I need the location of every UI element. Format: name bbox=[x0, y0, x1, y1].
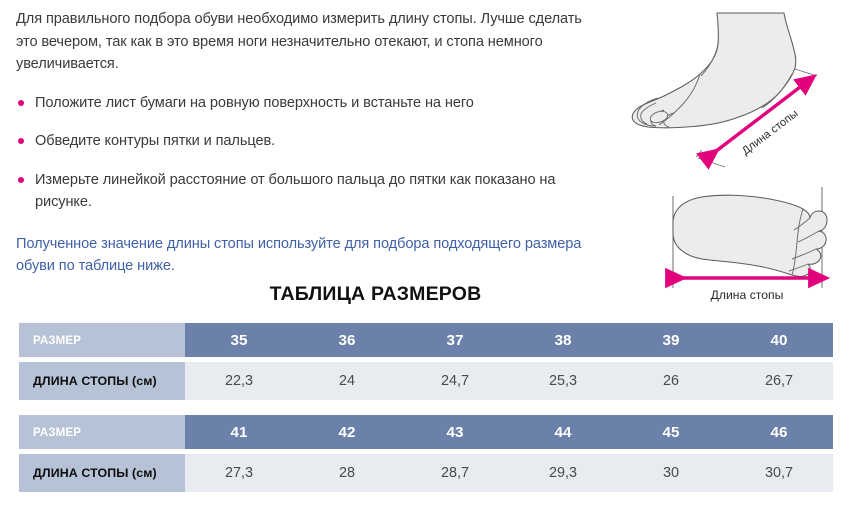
length-cell: 26 bbox=[617, 362, 725, 400]
length-cell: 30,7 bbox=[725, 454, 833, 492]
intro-paragraph: Для правильного подбора обуви необходимо… bbox=[16, 8, 604, 76]
length-cell: 28 bbox=[293, 454, 401, 492]
size-cell: 46 bbox=[725, 415, 833, 449]
step-text: Положите лист бумаги на ровную поверхнос… bbox=[35, 95, 474, 111]
page-title: ТАБЛИЦА РАЗМЕРОВ bbox=[0, 283, 751, 306]
length-cell: 24 bbox=[293, 362, 401, 400]
bullet-dot-icon bbox=[18, 138, 24, 144]
length-cell: 28,7 bbox=[401, 454, 509, 492]
list-item: Обведите контуры пятки и пальцев. bbox=[16, 130, 604, 153]
step-text: Измерьте линейкой расстояние от большого… bbox=[35, 172, 555, 211]
table-row: РАЗМЕР 35 36 37 38 39 40 bbox=[19, 323, 833, 357]
size-cell: 39 bbox=[617, 323, 725, 357]
row-header-size: РАЗМЕР bbox=[19, 323, 185, 357]
outro-paragraph: Полученное значение длины стопы использу… bbox=[16, 233, 604, 278]
steps-list: Положите лист бумаги на ровную поверхнос… bbox=[16, 92, 604, 214]
size-cell: 35 bbox=[185, 323, 293, 357]
length-cell: 30 bbox=[617, 454, 725, 492]
foot-side-view-illustration: Длина стопы bbox=[612, 0, 851, 182]
size-table-1: РАЗМЕР 35 36 37 38 39 40 ДЛИНА СТОПЫ (см… bbox=[19, 323, 833, 400]
bullet-dot-icon bbox=[18, 177, 24, 183]
bullet-dot-icon bbox=[18, 100, 24, 106]
row-header-length: ДЛИНА СТОПЫ (см) bbox=[19, 362, 185, 400]
table-row: ДЛИНА СТОПЫ (см) 22,3 24 24,7 25,3 26 26… bbox=[19, 362, 833, 400]
row-header-length: ДЛИНА СТОПЫ (см) bbox=[19, 454, 185, 492]
size-cell: 45 bbox=[617, 415, 725, 449]
side-view-measure-label: Длина стопы bbox=[740, 108, 801, 158]
size-cell: 36 bbox=[293, 323, 401, 357]
size-cell: 42 bbox=[293, 415, 401, 449]
size-guide-page: Для правильного подбора обуви необходимо… bbox=[0, 0, 851, 509]
size-cell: 44 bbox=[509, 415, 617, 449]
step-text: Обведите контуры пятки и пальцев. bbox=[35, 133, 275, 149]
table-row: РАЗМЕР 41 42 43 44 45 46 bbox=[19, 415, 833, 449]
list-item: Положите лист бумаги на ровную поверхнос… bbox=[16, 92, 604, 115]
size-cell: 37 bbox=[401, 323, 509, 357]
length-cell: 24,7 bbox=[401, 362, 509, 400]
row-header-size: РАЗМЕР bbox=[19, 415, 185, 449]
size-cell: 41 bbox=[185, 415, 293, 449]
length-cell: 29,3 bbox=[509, 454, 617, 492]
size-cell: 38 bbox=[509, 323, 617, 357]
list-item: Измерьте линейкой расстояние от большого… bbox=[16, 169, 604, 214]
length-cell: 25,3 bbox=[509, 362, 617, 400]
length-cell: 22,3 bbox=[185, 362, 293, 400]
length-cell: 27,3 bbox=[185, 454, 293, 492]
size-table-2: РАЗМЕР 41 42 43 44 45 46 ДЛИНА СТОПЫ (см… bbox=[19, 415, 833, 492]
table-row: ДЛИНА СТОПЫ (см) 27,3 28 28,7 29,3 30 30… bbox=[19, 454, 833, 492]
size-cell: 43 bbox=[401, 415, 509, 449]
size-cell: 40 bbox=[725, 323, 833, 357]
length-cell: 26,7 bbox=[725, 362, 833, 400]
instructions-block: Для правильного подбора обуви необходимо… bbox=[16, 8, 604, 278]
